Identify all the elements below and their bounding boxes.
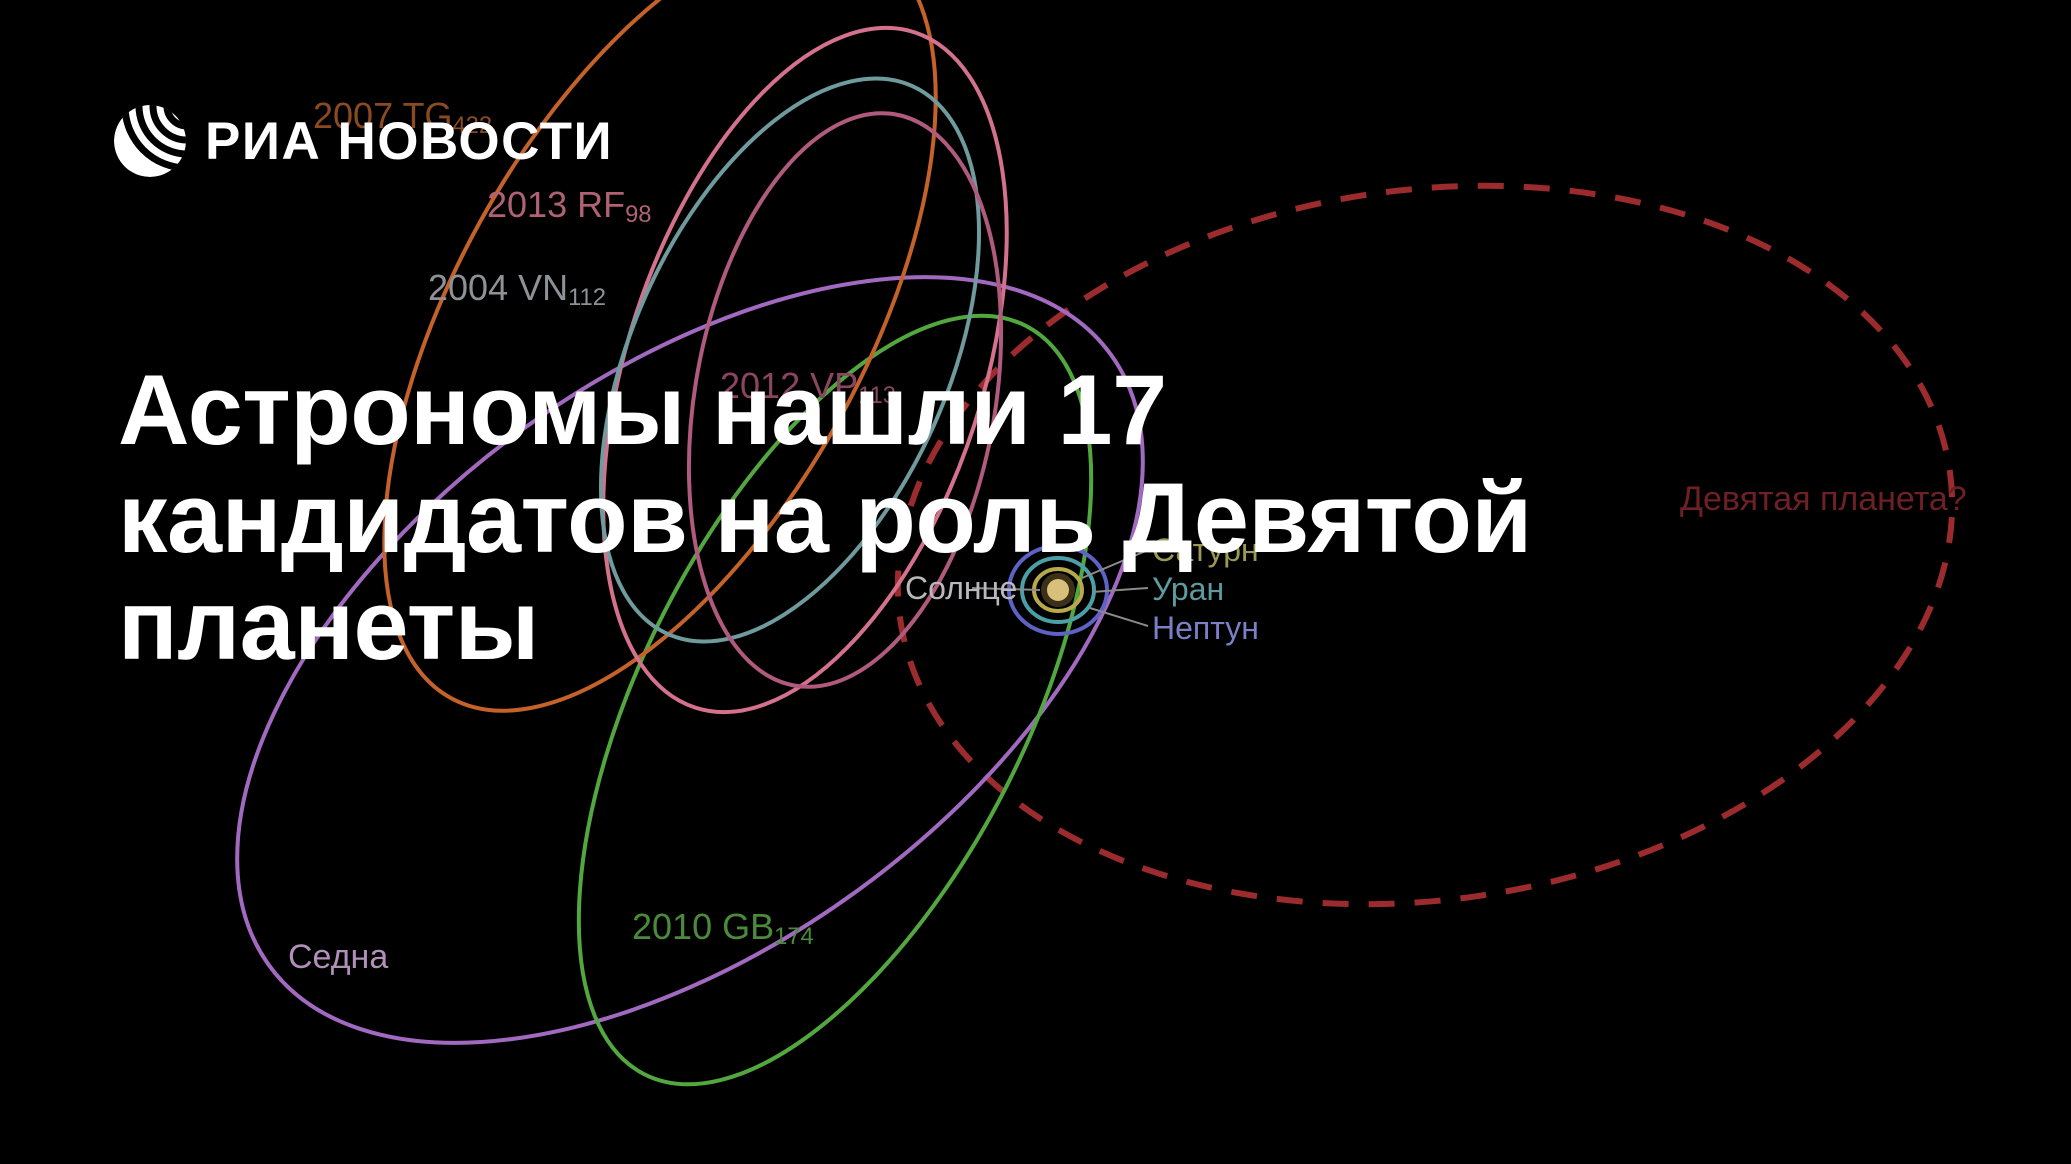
page-title: Астрономы нашли 17 кандидатов на роль Де… — [118, 356, 1918, 678]
ria-novosti-logo[interactable]: РИА НОВОСТИ — [113, 104, 613, 178]
object-label-2010gb174: 2010 GB174 — [632, 906, 814, 948]
headline-line-1: Астрономы нашли 17 — [118, 356, 1918, 463]
ria-novosti-wordmark: РИА НОВОСТИ — [205, 115, 613, 168]
object-label-sedna: Седна — [288, 938, 388, 977]
ria-spiral-icon — [113, 104, 187, 178]
article-cover-image: 2007 TG422 2013 RF98 2004 VN112 2012 VP1… — [0, 0, 2071, 1164]
object-label-2013rf98: 2013 RF98 — [487, 184, 652, 226]
headline-line-3: планеты — [118, 571, 1918, 678]
object-label-2004vn112: 2004 VN112 — [428, 267, 606, 309]
headline-line-2: кандидатов на роль Девятой — [118, 464, 1918, 571]
